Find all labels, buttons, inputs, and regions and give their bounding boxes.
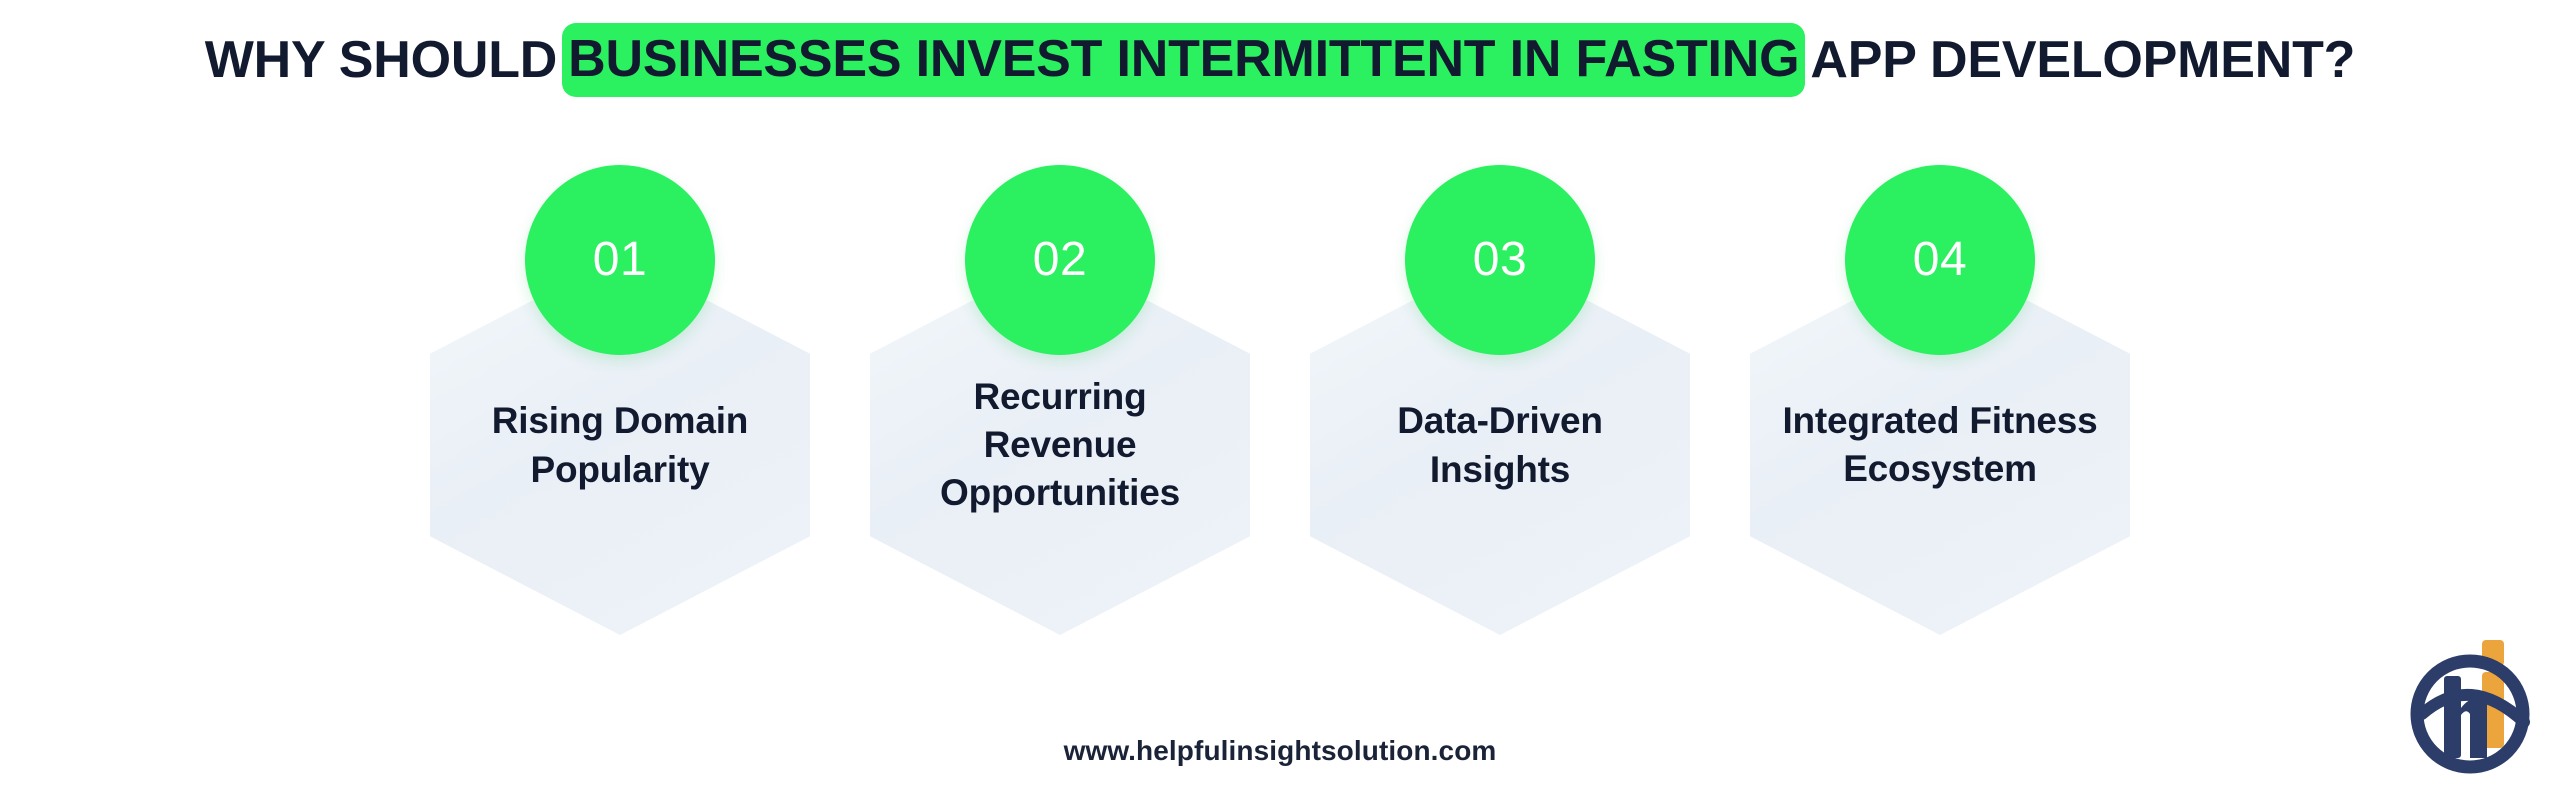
- step-number: 01: [593, 236, 647, 284]
- benefit-card-01[interactable]: Rising Domain Popularity 01: [430, 165, 810, 635]
- step-number-badge: 03: [1405, 165, 1595, 355]
- card-label: Recurring Revenue Opportunities: [896, 373, 1224, 517]
- title-tail: APP DEVELOPMENT?: [1808, 34, 2357, 86]
- page-title: WHY SHOULD BUSINESSES INVEST INTERMITTEN…: [0, 0, 2560, 120]
- step-number-badge: 01: [525, 165, 715, 355]
- card-label: Integrated Fitness Ecosystem: [1776, 397, 2104, 493]
- benefit-card-row: Rising Domain Popularity 01 Recurring Re…: [0, 165, 2560, 635]
- card-label: Rising Domain Popularity: [456, 396, 784, 494]
- benefit-card-02[interactable]: Recurring Revenue Opportunities 02: [870, 165, 1250, 635]
- step-number-badge: 04: [1845, 165, 2035, 355]
- benefit-card-03[interactable]: Data-Driven Insights 03: [1310, 165, 1690, 635]
- infographic-page: WHY SHOULD BUSINESSES INVEST INTERMITTEN…: [0, 0, 2560, 801]
- title-lead: WHY SHOULD: [203, 34, 559, 86]
- title-heading: WHY SHOULD BUSINESSES INVEST INTERMITTEN…: [203, 23, 2357, 97]
- card-label: Data-Driven Insights: [1336, 396, 1664, 494]
- step-number: 02: [1033, 236, 1087, 284]
- title-highlight: BUSINESSES INVEST INTERMITTENT IN FASTIN…: [562, 23, 1805, 97]
- website-url[interactable]: www.helpfulinsightsolution.com: [0, 735, 2560, 767]
- brand-logo-icon: [2408, 636, 2548, 786]
- step-number: 04: [1913, 236, 1967, 284]
- step-number-badge: 02: [965, 165, 1155, 355]
- step-number: 03: [1473, 236, 1527, 284]
- benefit-card-04[interactable]: Integrated Fitness Ecosystem 04: [1750, 165, 2130, 635]
